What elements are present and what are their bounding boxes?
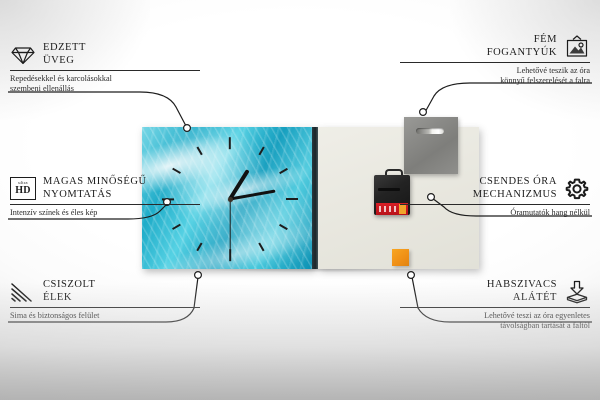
- callout-header: EDZETT ÜVEG: [10, 42, 200, 67]
- callout-silent-mechanism: CSENDES ÓRA MECHANIZMUS Óramutatók hang …: [400, 176, 590, 218]
- callout-divider: [400, 307, 590, 308]
- callout-description: Óramutatók hang nélkül: [400, 208, 590, 218]
- callout-title: FÉM FOGANTYÚK: [487, 34, 557, 59]
- callout-title: HABSZIVACS ALÁTÉT: [487, 279, 557, 304]
- callout-divider: [10, 307, 200, 308]
- callout-divider: [10, 70, 200, 71]
- callout-metal-handles: FÉM FOGANTYÚK Lehetővé teszik az óra kön…: [400, 34, 590, 86]
- clock-center-cap: [228, 197, 233, 202]
- callout-title: MAGAS MINŐSÉGŰ NYOMTATÁS: [43, 176, 147, 201]
- metal-hanger-plate[interactable]: [404, 117, 458, 174]
- ultra-hd-icon: ultra HD: [10, 177, 36, 201]
- press-pad-icon: [564, 280, 590, 304]
- callout-high-quality-print: ultra HD MAGAS MINŐSÉGŰ NYOMTATÁS Intenz…: [10, 176, 200, 218]
- hanger-keyhole-slot: [416, 128, 444, 134]
- mechanism-battery-slot: [378, 188, 400, 191]
- connector-metal-handles: [424, 83, 592, 114]
- callout-title: CSENDES ÓRA MECHANIZMUS: [473, 176, 557, 201]
- callout-description: Sima és biztonságos felület: [10, 311, 200, 321]
- callout-divider: [400, 204, 590, 205]
- ultra-hd-icon-main-text: HD: [15, 186, 31, 196]
- callout-header: CSISZOLT ÉLEK: [10, 279, 200, 304]
- clock-tick: [279, 224, 288, 230]
- connector-dot-metal-handles: [420, 109, 427, 116]
- clock-tick: [258, 243, 264, 252]
- clock-tick: [279, 168, 288, 174]
- clock-tick: [196, 146, 202, 155]
- callout-title: EDZETT ÜVEG: [43, 42, 86, 67]
- callout-description: Repedésekkel és karcolásokkal szembeni e…: [10, 74, 200, 94]
- clock-second-hand: [229, 199, 230, 253]
- gear-icon: [564, 177, 590, 201]
- callout-description: Lehetővé teszik az óra könnyű felszerelé…: [400, 66, 590, 86]
- clock-tick: [172, 168, 181, 174]
- clock-tick: [196, 243, 202, 252]
- callout-header: HABSZIVACS ALÁTÉT: [400, 279, 590, 304]
- connector-dot-foam-pad: [408, 272, 415, 279]
- callout-description: Lehetővé teszi az óra egyenletes távolsá…: [400, 311, 590, 331]
- callout-polished-edges: CSISZOLT ÉLEK Sima és biztonságos felüle…: [10, 279, 200, 321]
- hatch-lines-icon: [10, 280, 36, 304]
- clock-tick: [172, 224, 181, 230]
- callout-header: ultra HD MAGAS MINŐSÉGŰ NYOMTATÁS: [10, 176, 200, 201]
- infographic-canvas: EDZETT ÜVEG Repedésekkel és karcolásokka…: [0, 0, 600, 400]
- callout-description: Intenzív színek és éles kép: [10, 208, 200, 218]
- clock-tick: [229, 137, 231, 149]
- diamond-icon: [10, 43, 36, 67]
- callout-title: CSISZOLT ÉLEK: [43, 279, 95, 304]
- clock-tick: [286, 198, 298, 200]
- connector-tempered-glass: [8, 92, 186, 126]
- connector-dot-polished-edges: [195, 272, 202, 279]
- clock-tick: [258, 146, 264, 155]
- callout-header: FÉM FOGANTYÚK: [400, 34, 590, 59]
- callout-header: CSENDES ÓRA MECHANIZMUS: [400, 176, 590, 201]
- callout-divider: [400, 62, 590, 63]
- orange-foam-pad[interactable]: [392, 249, 409, 266]
- callout-tempered-glass: EDZETT ÜVEG Repedésekkel és karcolásokka…: [10, 42, 200, 94]
- picture-hanger-icon: [564, 35, 590, 59]
- callout-foam-pad: HABSZIVACS ALÁTÉT Lehetővé teszi az óra …: [400, 279, 590, 331]
- callout-divider: [10, 204, 200, 205]
